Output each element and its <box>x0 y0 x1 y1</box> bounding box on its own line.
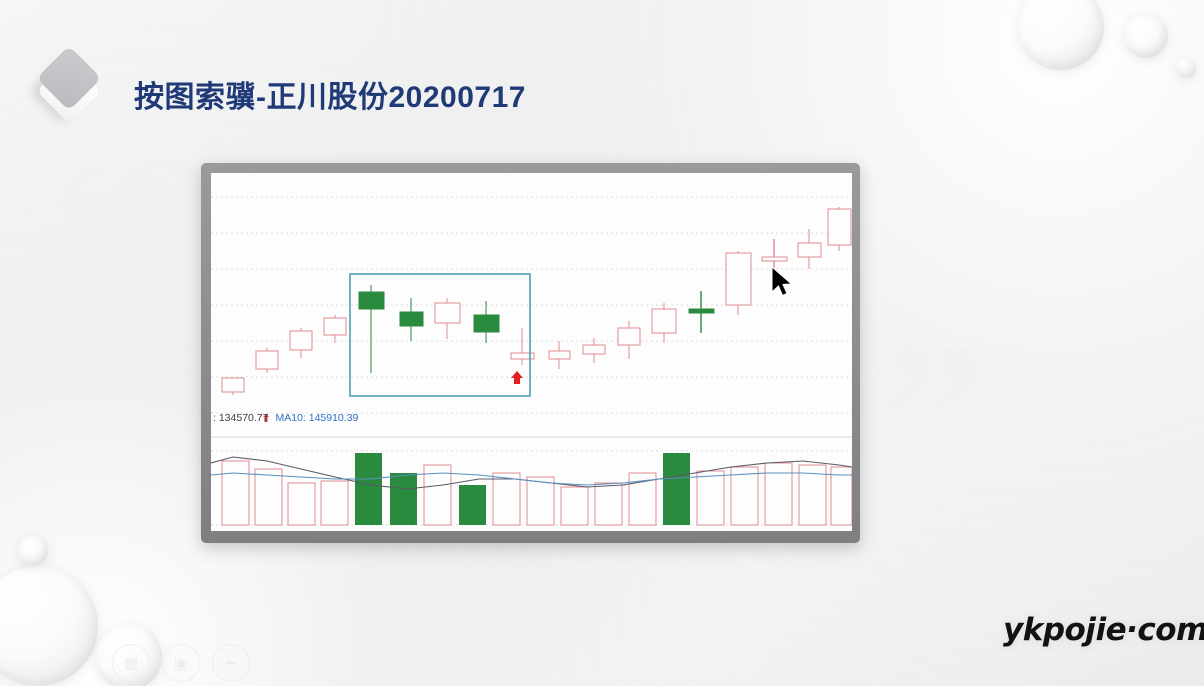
volume-bar-up <box>765 463 792 525</box>
candle-up <box>549 341 570 369</box>
wallet-icon: ━ <box>212 644 250 682</box>
candle-down <box>359 285 384 373</box>
volume-bar-down <box>390 473 417 525</box>
volume-bar-up <box>697 471 724 525</box>
indicator-strip: : 134570.77 MA10: 145910.39 <box>211 409 852 426</box>
page-title: 按图索骥-正川股份20200717 <box>134 72 526 116</box>
chart-screen[interactable]: : 134570.77 MA10: 145910.39 <box>211 173 852 531</box>
price-candles-right <box>828 207 851 251</box>
candlestick-chart[interactable] <box>211 173 852 531</box>
quote-open-icon: “ <box>52 148 157 316</box>
volume-bar-up <box>731 467 758 525</box>
indicator-ma10: MA10: 145910.39 <box>275 412 358 424</box>
volume-bar-up <box>493 473 520 525</box>
page-header: 按图索骥-正川股份20200717 <box>0 28 1204 104</box>
decor-sphere-bottom-small <box>18 536 48 566</box>
candle-up <box>726 251 751 315</box>
volume-bar-down <box>459 485 486 525</box>
candle-up <box>618 321 640 359</box>
buy-marker-icon <box>511 371 523 384</box>
volume-bar-down <box>663 453 690 525</box>
candle-up <box>762 239 787 281</box>
candle-up <box>256 348 278 373</box>
volume-bar-up <box>595 483 622 525</box>
candle-up <box>222 378 244 395</box>
candle-up <box>435 298 460 339</box>
calculator-icon: ▦ <box>112 644 150 682</box>
volume-bar-up <box>527 477 554 525</box>
volume-bar-down <box>355 453 382 525</box>
candle-up <box>828 207 851 251</box>
price-gridlines <box>211 197 852 413</box>
card-icon: ▣ <box>162 644 200 682</box>
decor-sphere-bottom-large <box>0 566 98 686</box>
quote-close-icon: ” <box>880 332 985 500</box>
candle-up <box>290 328 312 358</box>
candle-up <box>798 229 821 269</box>
site-watermark: ykpojie·com <box>1003 612 1204 648</box>
volume-bar-up <box>561 487 588 525</box>
volume-bar-up <box>222 461 249 525</box>
monitor-frame: : 134570.77 MA10: 145910.39 <box>201 163 860 543</box>
candle-down <box>474 301 499 343</box>
candle-down <box>400 298 423 341</box>
candle-up <box>324 315 346 343</box>
diamond-logo-icon <box>36 58 101 123</box>
indicator-value: : 134570.77 <box>213 412 268 424</box>
volume-bar-up <box>255 469 282 525</box>
decor-sphere-bottom-medium <box>96 624 162 686</box>
candle-up <box>583 338 605 363</box>
volume-bar-up <box>321 481 348 525</box>
volume-bar-up <box>831 467 852 525</box>
volume-bar-up <box>288 483 315 525</box>
candle-up <box>652 303 676 343</box>
candle-down <box>689 291 714 333</box>
